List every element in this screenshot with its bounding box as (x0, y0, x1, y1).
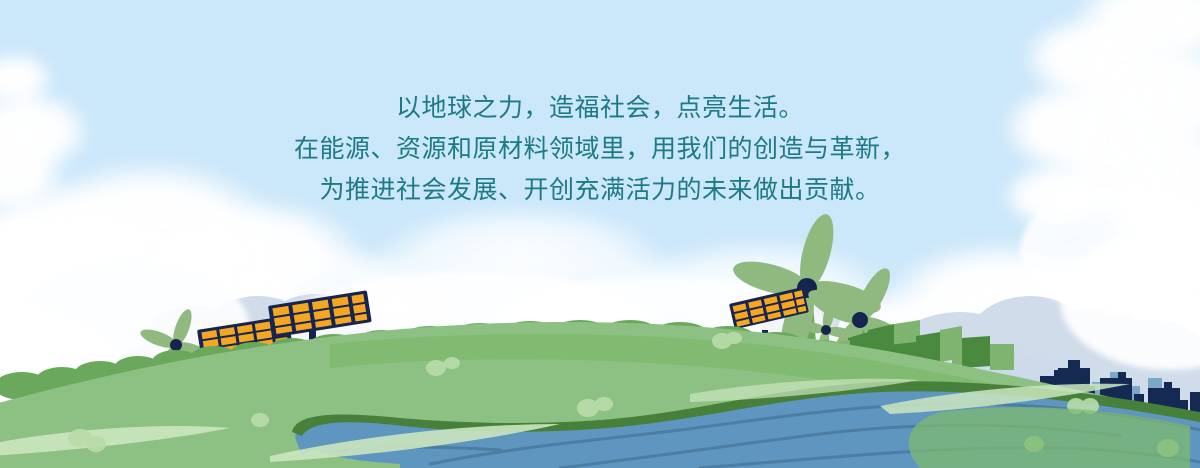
eco-hero-banner: 以地球之力，造福社会，点亮生活。 在能源、资源和原材料领域里，用我们的创造与革新… (0, 0, 1200, 468)
land-and-water-layer (0, 0, 1200, 468)
